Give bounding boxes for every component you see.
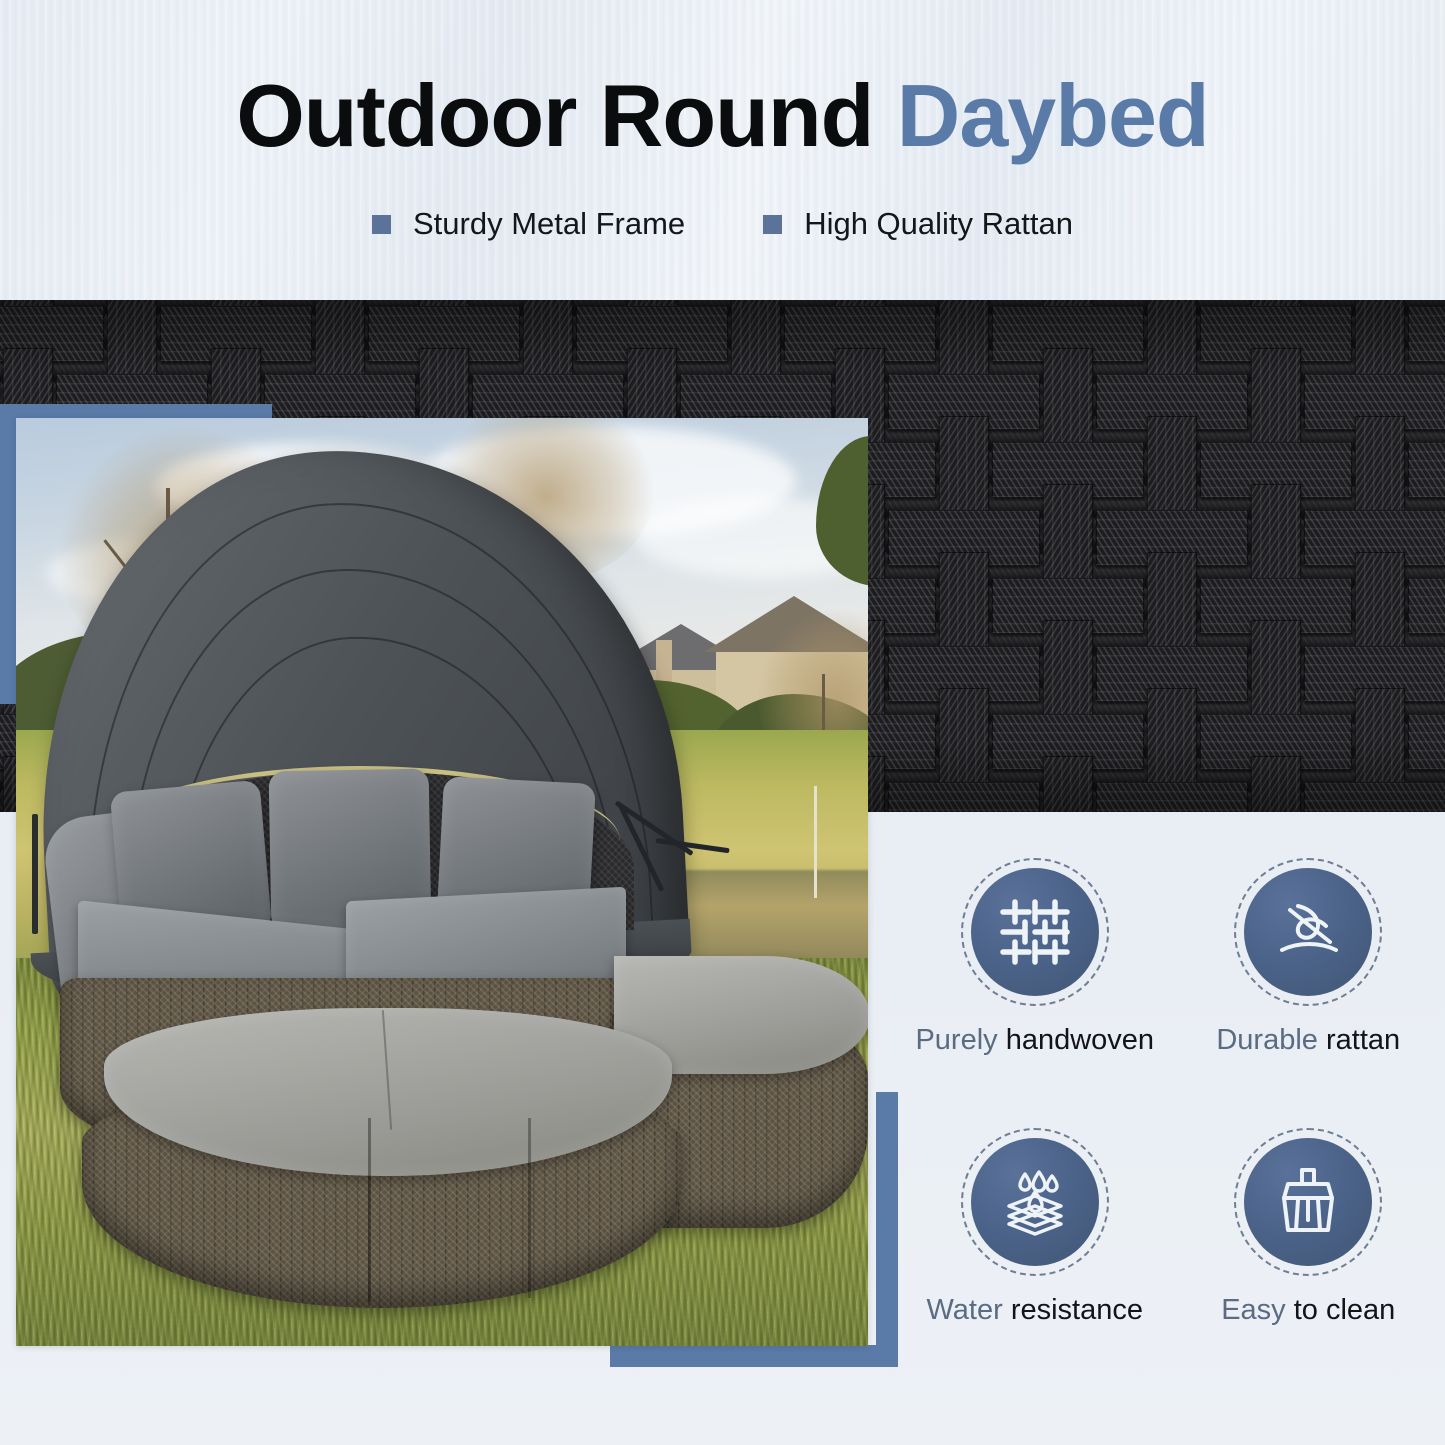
square-bullet-icon	[763, 215, 782, 234]
bullet-label: High Quality Rattan	[804, 206, 1073, 242]
rattan-strand-vertical	[1043, 756, 1093, 812]
water-drop-layers-icon	[995, 1162, 1075, 1242]
rattan-strand-vertical	[1355, 416, 1405, 525]
chimney	[656, 640, 672, 684]
feature-label: Purely handwoven	[915, 1026, 1154, 1055]
rattan-strand-vertical	[1251, 756, 1301, 812]
page-title-primary: Outdoor Round	[236, 66, 896, 165]
bullet-item-quality-rattan: High Quality Rattan	[763, 206, 1073, 242]
rattan-strand-horizontal	[1408, 578, 1445, 634]
rattan-strand-vertical	[1147, 688, 1197, 797]
rattan-strand-horizontal	[1408, 714, 1445, 770]
frame-accent-bottom-right-horizontal	[610, 1345, 898, 1367]
rattan-strand-vertical	[1251, 620, 1301, 729]
square-bullet-icon	[372, 215, 391, 234]
feature-label: Easy to clean	[1221, 1296, 1395, 1325]
bullet-label: Sturdy Metal Frame	[413, 206, 685, 242]
rattan-strand-vertical	[939, 552, 989, 661]
rattan-strand-vertical	[1043, 484, 1093, 593]
feature-label-muted: Purely	[915, 1024, 997, 1056]
rattan-strand-vertical	[1147, 552, 1197, 661]
broom-icon	[1268, 1162, 1348, 1242]
feature-easy-to-clean[interactable]: Easy to clean	[1172, 1100, 1445, 1370]
rattan-strand-vertical	[939, 416, 989, 525]
rattan-strand-vertical	[1043, 348, 1093, 457]
wicker-base-seam	[368, 1118, 371, 1302]
frame-accent-bottom-right-vertical	[876, 1092, 898, 1367]
feature-label-dark: rattan	[1318, 1024, 1400, 1056]
rattan-strand-vertical	[939, 688, 989, 797]
feature-label: Water resistance	[926, 1296, 1143, 1325]
rattan-strand-vertical	[1043, 620, 1093, 729]
canopy-hinge-post	[32, 814, 38, 934]
feature-water-resistance[interactable]: Water resistance	[898, 1100, 1172, 1370]
feature-label-muted: Easy	[1221, 1294, 1285, 1326]
feature-label-dark: to clean	[1286, 1294, 1396, 1326]
feature-icon-grid: Purely handwoven Durable rattan	[898, 830, 1445, 1370]
page-title: Outdoor Round Daybed	[0, 72, 1445, 160]
rattan-strand-horizontal	[1096, 782, 1248, 812]
feature-label-muted: Water	[926, 1294, 1002, 1326]
feature-label-dark: resistance	[1003, 1294, 1143, 1326]
page-title-accent: Daybed	[897, 66, 1209, 165]
product-photo	[16, 418, 868, 1346]
feature-label: Durable rattan	[1216, 1026, 1400, 1055]
rattan-strand-vertical	[1251, 484, 1301, 593]
rattan-strand-vertical	[1251, 348, 1301, 457]
rattan-strand-horizontal	[1408, 306, 1445, 362]
feature-bullets-row: Sturdy Metal Frame High Quality Rattan	[0, 206, 1445, 242]
feature-icon-badge	[1234, 858, 1382, 1006]
wicker-base-seam	[528, 1118, 531, 1298]
feature-durable-rattan[interactable]: Durable rattan	[1172, 830, 1445, 1100]
no-scratch-rattan-icon	[1268, 892, 1348, 972]
feature-icon-badge	[961, 858, 1109, 1006]
rattan-strand-vertical	[1147, 416, 1197, 525]
feature-purely-handwoven[interactable]: Purely handwoven	[898, 830, 1172, 1100]
bullet-item-metal-frame: Sturdy Metal Frame	[372, 206, 685, 242]
golf-flagpole	[814, 786, 817, 898]
product-marketing-poster: Outdoor Round Daybed Sturdy Metal Frame …	[0, 0, 1445, 1445]
rattan-strand-horizontal	[1304, 782, 1445, 812]
feature-label-dark: handwoven	[998, 1024, 1154, 1056]
rattan-strand-horizontal	[888, 782, 1040, 812]
rattan-strand-vertical	[1355, 552, 1405, 661]
feature-icon-badge	[1234, 1128, 1382, 1276]
feature-label-muted: Durable	[1216, 1024, 1318, 1056]
basket-weave-icon	[995, 892, 1075, 972]
rattan-strand-vertical	[1355, 688, 1405, 797]
rattan-strand-horizontal	[1408, 442, 1445, 498]
feature-icon-badge	[961, 1128, 1109, 1276]
